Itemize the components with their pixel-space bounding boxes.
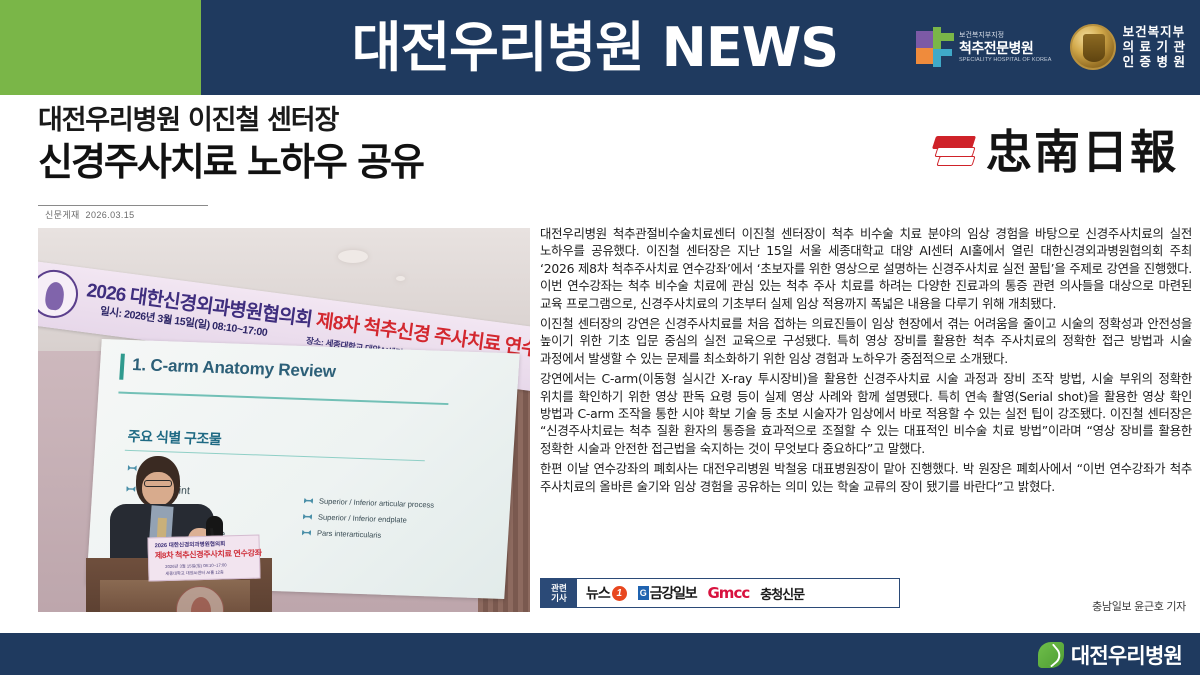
slide-item-label: Superior / Inferior endplate xyxy=(318,513,407,525)
slide-bullet-item: Superior / Inferior articular process xyxy=(304,496,435,510)
main-headline: 신경주사치료 노하우 공유 xyxy=(38,139,598,185)
badge-spine-line3: SPECIALITY HOSPITAL OF KOREA xyxy=(959,56,1052,64)
date-divider xyxy=(38,205,208,206)
related-source-geumgang[interactable]: G 금강일보 xyxy=(638,583,697,603)
article-paragraph: 강연에서는 C-arm(이동형 실시간 X-ray 투시장비)을 활용한 신경주… xyxy=(540,370,1192,457)
date-label: 신문게재 xyxy=(45,210,80,220)
bullet-icon xyxy=(126,486,135,492)
article-photo: 2026 대한신경외과병원협의회 제8차 척추신경 주사치료 연수강좌 일시: … xyxy=(38,228,530,612)
slide-bullet-item: Pars interarticularis xyxy=(302,528,433,542)
bullet-icon xyxy=(302,529,311,535)
page-footer: 대전우리병원 xyxy=(0,633,1200,675)
related-tag-line1: 관련 xyxy=(551,583,567,593)
slide-title: 1. C-arm Anatomy Review xyxy=(132,355,337,382)
medal-icon xyxy=(1070,24,1116,70)
badge-cert-line2: 의 료 기 관 xyxy=(1123,40,1186,55)
speaker-face xyxy=(142,472,174,506)
slide-subtitle: 주요 식별 구조물 xyxy=(127,426,222,449)
date-value: 2026.03.15 xyxy=(86,210,135,220)
lectern-sign: 2026 대한신경외과병원협의회 제8차 척추신경주사치료 연수강좌 2026년… xyxy=(147,535,260,582)
badge-spine-line1: 보건복지부지정 xyxy=(959,31,1052,40)
article-byline: 충남일보 윤근호 기자 xyxy=(1092,598,1186,614)
bullet-icon xyxy=(128,465,137,471)
article-paragraph: 한편 이날 연수강좌의 폐회사는 대전우리병원 박철웅 대표병원장이 맡아 진행… xyxy=(540,460,1192,495)
related-source-gmcc[interactable]: Gmcc xyxy=(708,584,750,602)
related-articles-bar[interactable]: 관련 기사 뉴스 1 G 금강일보 Gmcc 충청신문 xyxy=(540,578,900,608)
related-tag-line2: 기사 xyxy=(551,593,567,603)
header-green-block xyxy=(0,0,201,95)
ceiling-light xyxy=(338,250,368,263)
lectern-line4: 세종대학교 대양AI센터 AI홀 12층 xyxy=(165,569,224,577)
bullet-icon xyxy=(303,514,312,520)
news1-label: 뉴스 xyxy=(586,583,610,603)
related-source-chungcheong[interactable]: 충청신문 xyxy=(760,584,804,603)
badge-cert-line1: 보건복지부 xyxy=(1123,25,1186,40)
newspaper-logo: 忠南日報 xyxy=(934,128,1178,176)
speaker-glasses xyxy=(144,480,172,487)
related-tag: 관련 기사 xyxy=(541,579,577,607)
slide-bullet-item: Superior / Inferior endplate xyxy=(303,512,434,526)
newspaper-name-chinese: 忠南日報 xyxy=(986,128,1178,176)
bullet-icon xyxy=(304,498,313,504)
podium-front-panel xyxy=(100,580,250,612)
geumgang-mark-icon: G xyxy=(638,586,649,600)
headline-block: 대전우리병원 이진철 센터장 신경주사치료 노하우 공유 xyxy=(38,104,598,185)
footer-hospital-logo: 대전우리병원 xyxy=(1038,640,1182,670)
page-header: 대전우리병원 NEWS 보건복지부지정 척추전문병원 SPECIALITY HO… xyxy=(0,0,1200,95)
article-paragraph: 이진철 센터장의 강연은 신경주사치료를 처음 접하는 의료진들이 임상 현장에… xyxy=(540,315,1192,367)
slide-item-label: Superior / Inferior articular process xyxy=(319,497,435,510)
header-badges: 보건복지부지정 척추전문병원 SPECIALITY HOSPITAL OF KO… xyxy=(916,14,1186,80)
ceiling-light xyxy=(396,276,405,281)
publication-date: 신문게재 2026.03.15 xyxy=(45,208,135,221)
news1-mark-icon: 1 xyxy=(612,586,627,601)
association-seal-icon xyxy=(38,267,81,321)
slide-item-label: Pars interarticularis xyxy=(317,529,382,540)
sub-headline: 대전우리병원 이진철 센터장 xyxy=(38,104,598,138)
badge-medical-certification: 보건복지부 의 료 기 관 인 증 병 원 xyxy=(1070,24,1186,70)
article-body: 대전우리병원 척추관절비수술치료센터 이진철 센터장이 척추 비수술 치료 분야… xyxy=(540,225,1192,498)
badge-spine-specialty-hospital: 보건복지부지정 척추전문병원 SPECIALITY HOSPITAL OF KO… xyxy=(916,27,1052,67)
spine-cross-icon xyxy=(916,27,954,67)
article-paragraph: 대전우리병원 척추관절비수술치료센터 이진철 센터장이 척추 비수술 치료 분야… xyxy=(540,225,1192,312)
footer-hospital-name: 대전우리병원 xyxy=(1071,640,1182,670)
page-title: 대전우리병원 NEWS xyxy=(300,16,890,80)
slide-right-column: Superior / Inferior articular process Su… xyxy=(301,496,434,548)
badge-cert-line3: 인 증 병 원 xyxy=(1123,55,1186,70)
slide-divider xyxy=(118,392,448,405)
related-source-news1[interactable]: 뉴스 1 xyxy=(586,583,627,603)
lectern-line2: 제8차 척추신경주사치료 연수강좌 xyxy=(155,547,262,561)
geumgang-label: 금강일보 xyxy=(650,583,697,603)
badge-spine-line2: 척추전문병원 xyxy=(959,40,1052,56)
slide-accent-bar xyxy=(119,354,125,380)
leaf-icon xyxy=(1038,642,1064,668)
book-icon xyxy=(934,134,976,170)
